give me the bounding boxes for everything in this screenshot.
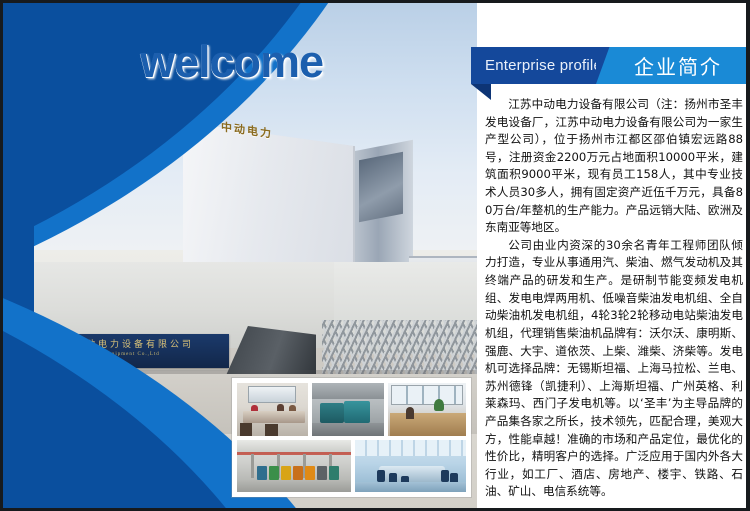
ribbon-wedge (596, 47, 624, 84)
ribbon-english-label: Enterprise profile (485, 57, 602, 74)
section-ribbon: Enterprise profile 企业简介 (471, 47, 750, 84)
ribbon-english-segment: Enterprise profile (471, 47, 596, 84)
generator-lineup-photo (237, 440, 351, 492)
profile-paragraph-2: 公司由业内资深的30余名青年工程师团队倾力打造，专业从事通用汽、柴油、燃气发动机… (485, 237, 743, 501)
welcome-wordmark: welcome (140, 36, 323, 88)
profile-paragraph-1: 江苏中动电力设备有限公司（注：扬州市圣丰发电设备厂，江苏中动电力设备有限公司为一… (485, 96, 743, 237)
retractable-gate (322, 320, 477, 376)
collage-row-bottom (237, 440, 466, 492)
left-banner-panel: 中动电力 江苏中动电力设备有限公司 Zhongdong Power Equipm… (0, 0, 477, 511)
frame-right (746, 0, 750, 511)
frame-top (0, 0, 750, 3)
ribbon-chinese-label: 企业简介 (634, 51, 722, 80)
photo-collage (232, 378, 471, 497)
generator-workshop-photo (312, 383, 383, 436)
frame-left (0, 0, 3, 511)
banner-page: 中动电力 江苏中动电力设备有限公司 Zhongdong Power Equipm… (0, 0, 750, 511)
building-glass-panel (359, 152, 403, 223)
meeting-room-photo (237, 383, 308, 436)
ribbon-chinese-segment: 企业简介 (624, 47, 750, 84)
conference-room-photo (355, 440, 466, 492)
collage-row-top (237, 383, 466, 436)
office-counter-photo (388, 383, 466, 436)
profile-text-body: 江苏中动电力设备有限公司（注：扬州市圣丰发电设备厂，江苏中动电力设备有限公司为一… (485, 96, 743, 496)
